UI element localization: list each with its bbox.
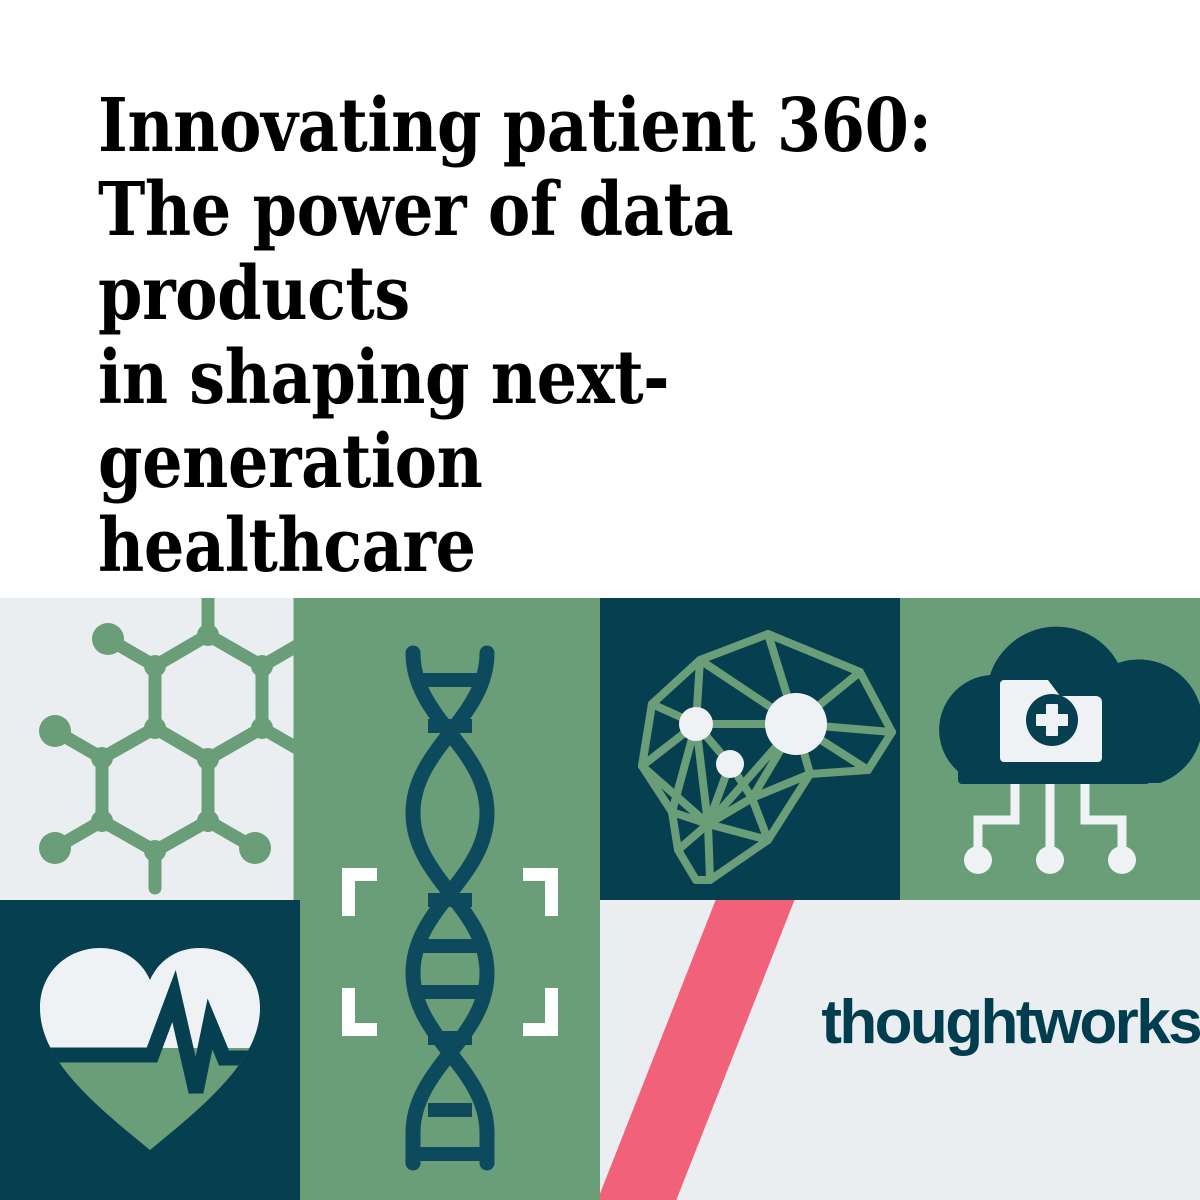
page-title: Innovating patient 360: The power of dat… [98,84,958,588]
tile-cloud-records [900,598,1200,900]
tile-dna [300,598,600,1200]
logo-lockup-wrap: thoughtworks Strategy. Design. Engineeri… [600,900,1200,1200]
slash-icon [600,900,819,1200]
brand-wordmark: thoughtworks [821,992,1200,1054]
headline-block: Innovating patient 360: The power of dat… [98,84,1098,672]
molecule-lattice-icon [0,598,300,900]
heart-pulse-icon [0,900,300,1200]
tile-brain [600,598,900,900]
promo-poster: Innovating patient 360: The power of dat… [0,0,1200,1200]
thoughtworks-logo: thoughtworks [600,900,1200,1200]
tile-molecule [0,598,300,900]
cloud-health-records-icon [900,598,1200,900]
tile-heartbeat [0,900,300,1200]
tile-brand-logo: thoughtworks Strategy. Design. Engineeri… [600,900,1200,1200]
dna-helix-icon [300,598,600,1200]
icon-tile-grid: thoughtworks Strategy. Design. Engineeri… [0,598,1200,1200]
brain-network-icon [600,598,900,900]
